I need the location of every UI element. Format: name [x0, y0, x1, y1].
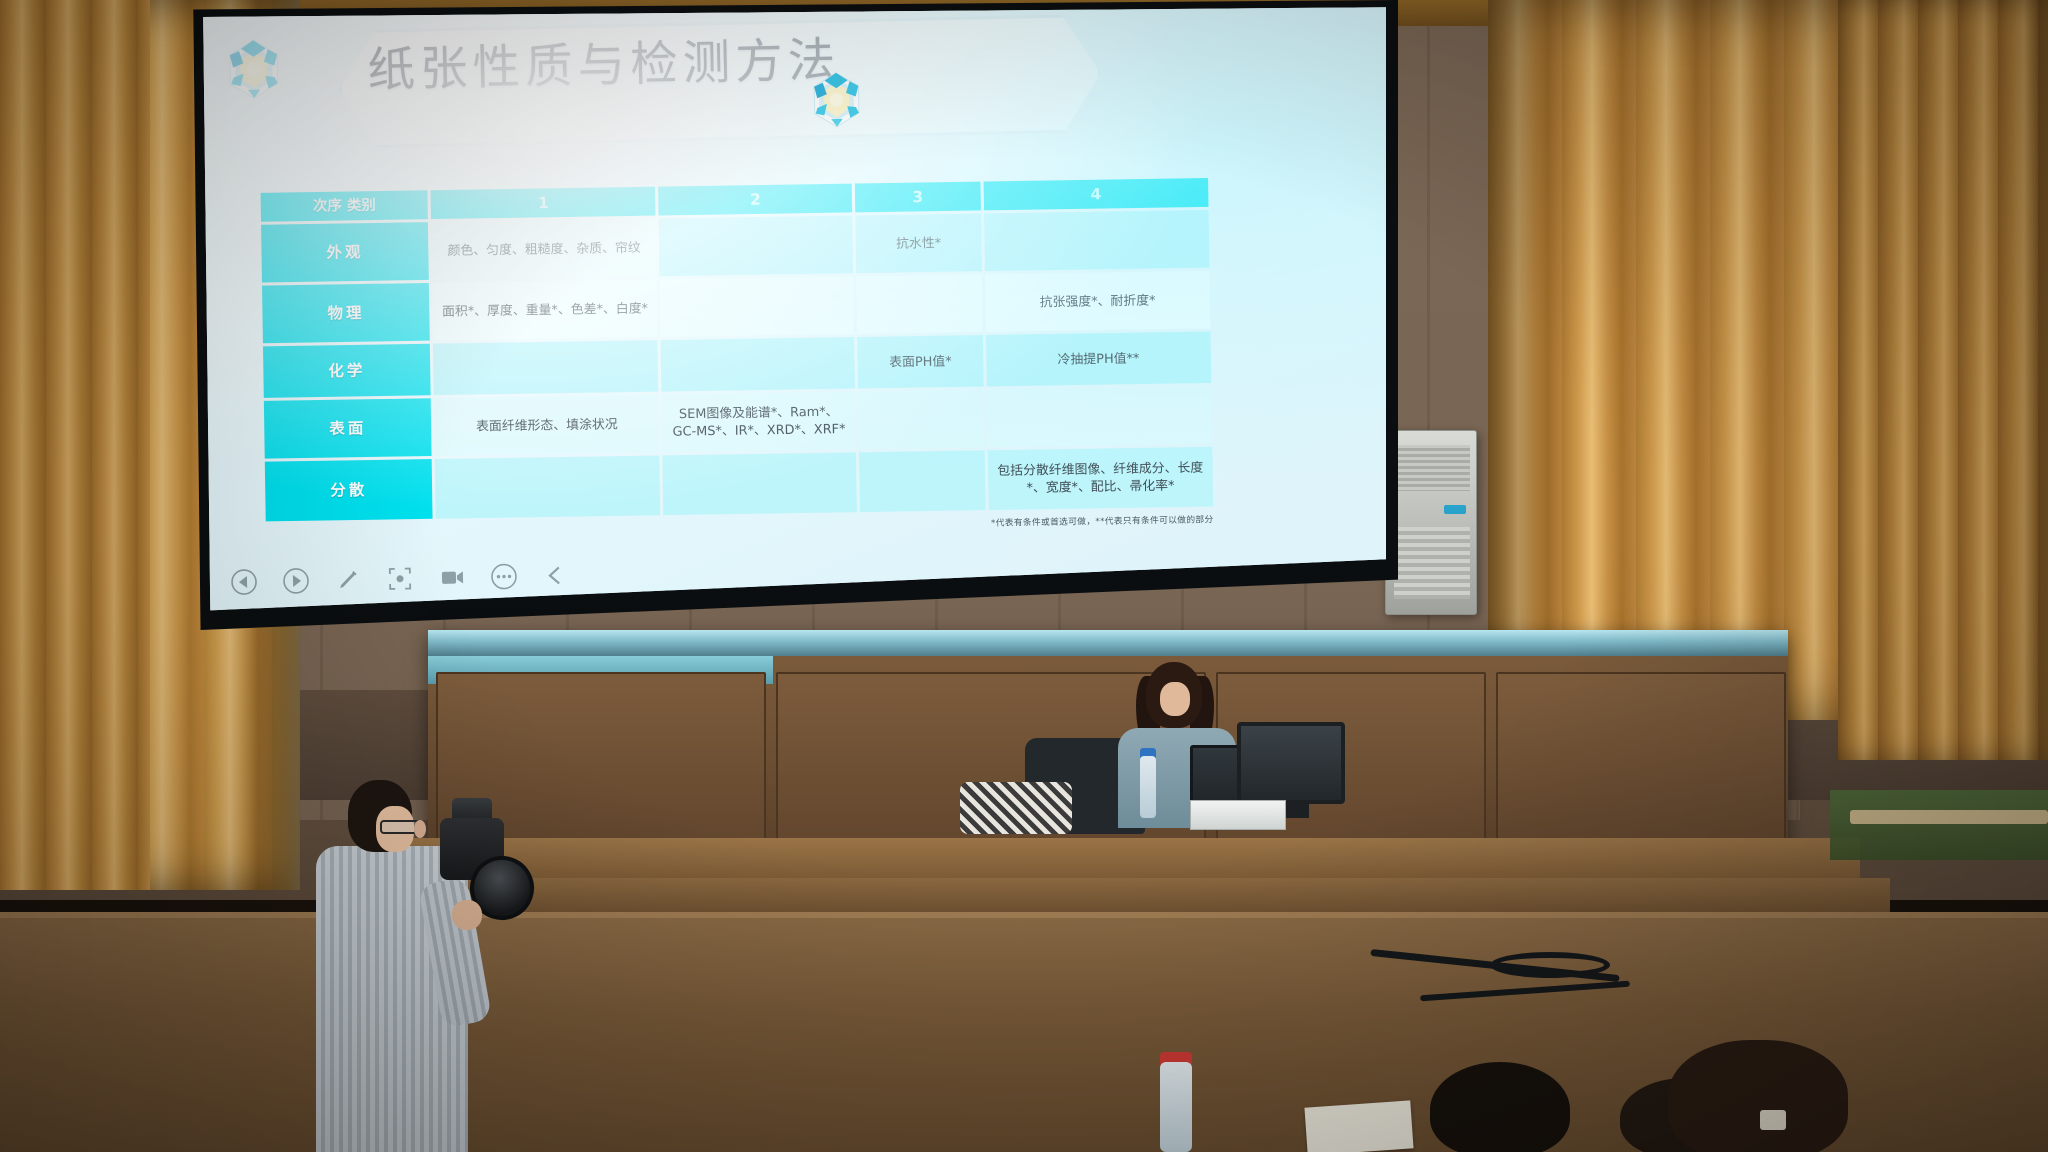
curtain-right-fold [1838, 0, 2048, 760]
table-footnote: *代表有条件或首选可做，**代表只有条件可以做的部分 [843, 513, 1214, 531]
pen-icon[interactable] [334, 566, 363, 595]
cell-dispersion-3 [859, 451, 985, 513]
cell-surface-1: 表面纤维形态、填涂状况 [434, 395, 660, 456]
stage-riser-upper [380, 838, 1860, 882]
previous-icon[interactable] [230, 568, 259, 597]
column-header-2: 2 [659, 184, 853, 216]
photographer-hand [452, 900, 482, 930]
cable-coil [1490, 952, 1610, 978]
cell-appearance-2 [659, 216, 853, 277]
side-platform [1830, 790, 2048, 860]
audience-head [1430, 1062, 1570, 1152]
cell-chemical-3: 表面PH值* [857, 335, 983, 388]
row-category-appearance: 外观 [261, 222, 429, 282]
handbag [960, 782, 1072, 834]
table-row: 表面 表面纤维形态、填涂状况 SEM图像及能谱*、Ram*、GC-MS*、IR*… [264, 386, 1212, 459]
water-bottle [1140, 756, 1156, 818]
cell-surface-3 [858, 390, 984, 450]
cell-surface-2: SEM图像及能谱*、Ram*、GC-MS*、IR*、XRD*、XRF* [662, 392, 856, 453]
play-icon[interactable] [282, 567, 311, 596]
handrail [1850, 810, 2048, 824]
cell-appearance-4 [984, 210, 1210, 271]
cell-chemical-4: 冷抽提PH值** [986, 332, 1211, 387]
hair-clip [1760, 1110, 1786, 1130]
row-category-physical: 物理 [262, 283, 430, 343]
column-header-4: 4 [983, 178, 1208, 211]
more-options-icon[interactable] [490, 562, 519, 591]
record-icon[interactable] [438, 563, 467, 592]
table-corner-header: 次序 类别 [261, 190, 429, 222]
desk-monitor [1237, 722, 1345, 804]
audience-bottle [1160, 1062, 1192, 1152]
hexagon-flake-icon-left [222, 38, 285, 101]
lecture-hall-scene: 纸张性质与检测方法 次序 类别 1 2 3 4 外观 颜色、匀度、粗糙度、杂质、… [0, 0, 2048, 1152]
cell-dispersion-2 [663, 453, 857, 516]
ac-grill-top [1394, 445, 1470, 491]
photographer-ear [414, 820, 426, 838]
hexagon-flake-icon-right [807, 70, 866, 129]
laser-pointer-icon[interactable] [386, 564, 415, 593]
row-category-dispersion: 分散 [265, 459, 433, 521]
audience-head [1668, 1040, 1848, 1152]
cell-chemical-2 [661, 337, 855, 392]
properties-table: 次序 类别 1 2 3 4 外观 颜色、匀度、粗糙度、杂质、帘纹 抗水性* 物理… [257, 175, 1216, 525]
air-conditioner [1385, 430, 1477, 615]
cell-dispersion-4: 包括分散纤维图像、纤维成分、长度*、宽度*、配比、帚化率* [988, 447, 1214, 510]
ac-grill-bottom [1394, 527, 1470, 599]
cell-appearance-3: 抗水性* [855, 214, 981, 274]
column-header-1: 1 [431, 187, 656, 220]
cell-surface-4 [987, 386, 1213, 447]
desk-front-panel [1496, 672, 1786, 840]
presentation-slide[interactable]: 纸张性质与检测方法 次序 类别 1 2 3 4 外观 颜色、匀度、粗糙度、杂质、… [196, 6, 1386, 614]
table-row: 外观 颜色、匀度、粗糙度、杂质、帘纹 抗水性* [261, 210, 1209, 283]
desk-top-edge [428, 630, 1788, 656]
ac-display-icon [1444, 505, 1466, 514]
cell-physical-4: 抗张强度*、耐折度* [985, 271, 1211, 332]
projection-screen[interactable]: 纸张性质与检测方法 次序 类别 1 2 3 4 外观 颜色、匀度、粗糙度、杂质、… [196, 6, 1386, 614]
table-row: 分散 包括分散纤维图像、纤维成分、长度*、宽度*、配比、帚化率* [265, 447, 1213, 522]
curtain-left-fold [0, 0, 150, 890]
cell-physical-2 [660, 277, 854, 338]
cell-physical-1: 面积*、厚度、重量*、色差*、白度* [432, 280, 658, 341]
row-category-surface: 表面 [264, 399, 432, 459]
floor-edge-line [0, 912, 2048, 918]
column-header-3: 3 [855, 182, 981, 213]
handout-paper [1304, 1100, 1413, 1152]
cell-physical-3 [856, 275, 982, 335]
name-plate [1190, 800, 1286, 830]
cell-dispersion-1 [435, 456, 661, 519]
row-category-chemical: 化学 [263, 344, 431, 398]
back-icon[interactable] [542, 561, 571, 590]
cell-appearance-1: 颜色、匀度、粗糙度、杂质、帘纹 [431, 219, 657, 280]
cell-chemical-1 [433, 340, 658, 395]
presenter-face [1160, 682, 1190, 716]
table-row: 物理 面积*、厚度、重量*、色差*、白度* 抗张强度*、耐折度* [262, 271, 1210, 344]
